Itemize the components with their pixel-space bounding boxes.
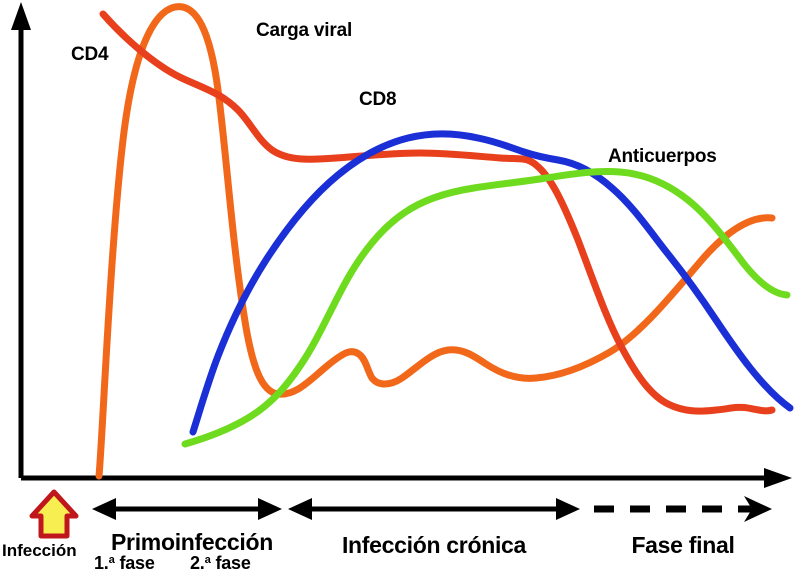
label-carga-viral: Carga viral: [256, 20, 352, 42]
curve-group: [99, 7, 790, 476]
fase-final-arrow: [594, 496, 772, 522]
infeccion-cronica-arrow-head-left: [288, 498, 312, 520]
label-anticuerpos: Anticuerpos: [608, 146, 717, 168]
primoinfeccion-arrow: [92, 498, 282, 520]
label-fase-final: Fase final: [594, 532, 772, 559]
fase-2-num: 2.: [190, 553, 205, 573]
x-axis-arrowhead: [764, 468, 792, 488]
phase-arrows: [92, 496, 772, 522]
y-axis-arrowhead: [11, 2, 31, 30]
infeccion-arrow-shape: [32, 492, 76, 536]
label-primoinfeccion: Primoinfección: [96, 529, 288, 556]
fase-1-num: 1.: [94, 553, 109, 573]
fase-2-word: fase: [211, 553, 251, 573]
label-infeccion: Infección: [2, 541, 77, 561]
label-primoinfeccion-fase-2: 2.a fase: [190, 553, 251, 574]
primoinfeccion-arrow-head-left: [92, 498, 116, 520]
fase-1-word: fase: [115, 553, 155, 573]
label-cd4: CD4: [71, 44, 108, 66]
hiv-progression-figure: CD4 Carga viral CD8 Anticuerpos Infecció…: [0, 0, 800, 579]
label-infeccion-cronica: Infección crónica: [290, 532, 578, 559]
curve-anticuerpos: [185, 171, 787, 444]
primoinfeccion-arrow-head-right: [258, 498, 282, 520]
infeccion-cronica-arrow-head-right: [556, 498, 580, 520]
chart-canvas: [0, 0, 800, 579]
label-primoinfeccion-fase-1: 1.a fase: [94, 553, 155, 574]
infeccion-arrow-icon: [32, 492, 76, 536]
axes: [11, 2, 792, 488]
label-cd8: CD8: [359, 89, 396, 111]
infeccion-cronica-arrow: [288, 498, 580, 520]
